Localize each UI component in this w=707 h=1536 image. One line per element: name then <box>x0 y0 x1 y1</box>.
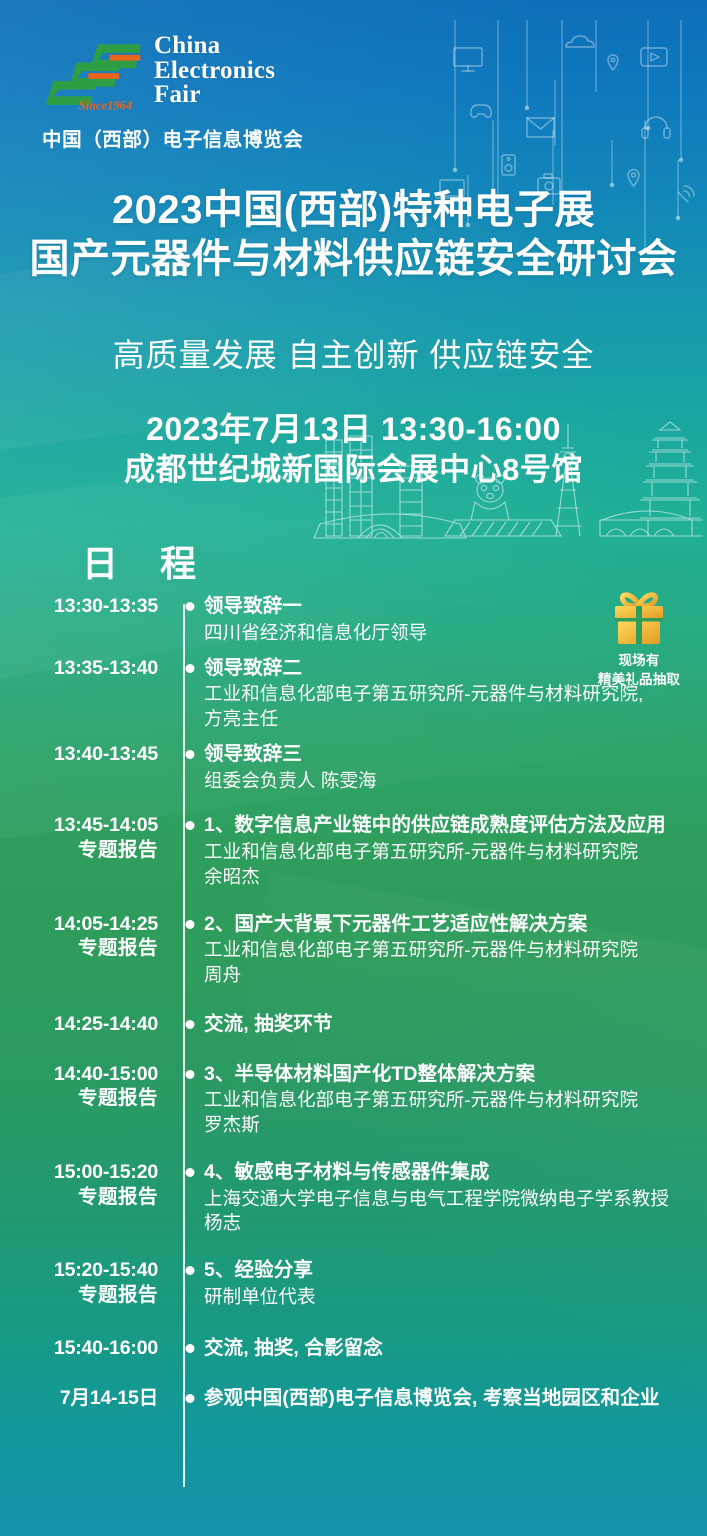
schedule-row-time: 13:35-13:40 <box>0 656 158 681</box>
schedule-row-title: 领导致辞一 <box>204 594 691 620</box>
schedule-row-title: 交流, 抽奖环节 <box>204 1012 691 1038</box>
schedule-row-description: 研制单位代表 <box>204 1285 691 1310</box>
schedule-row-time-cell: 15:20-15:40专题报告 <box>0 1258 176 1310</box>
cef-logo-mark: Since1964 <box>42 38 148 114</box>
gamepad-icon <box>471 105 492 117</box>
schedule-row-body: 领导致辞三组委会负责人 陈雯海 <box>204 742 707 794</box>
schedule-row: 14:05-14:25专题报告2、国产大背景下元器件工艺适应性解决方案工业和信息… <box>0 912 707 990</box>
headphones-icon <box>642 117 670 138</box>
event-info: 2023年7月13日 13:30-16:00 成都世纪城新国际会展中心8号馆 <box>0 408 707 491</box>
title-line-2: 国产元器件与材料供应链安全研讨会 <box>0 235 707 284</box>
schedule-row-title: 3、半导体材料国产化TD整体解决方案 <box>204 1062 691 1088</box>
logo-line-fair: Fair <box>154 83 275 108</box>
schedule-row-description: 上海交通大学电子信息与电气工程学院微纳电子学系教授杨志 <box>204 1187 691 1237</box>
schedule-row-body: 交流, 抽奖环节 <box>204 1012 707 1038</box>
schedule-row-time: 15:00-15:20 <box>0 1160 158 1185</box>
schedule-row: 14:40-15:00专题报告3、半导体材料国产化TD整体解决方案工业和信息化部… <box>0 1062 707 1140</box>
schedule-row-title: 领导致辞三 <box>204 742 691 768</box>
timeline-dot-column <box>176 912 204 988</box>
timeline-dot-icon <box>186 664 195 673</box>
schedule-row-time-cell: 7月14-15日 <box>0 1386 176 1412</box>
schedule-row-title: 参观中国(西部)电子信息博览会, 考察当地园区和企业 <box>204 1386 691 1412</box>
schedule-row-description: 工业和信息化部电子第五研究所-元器件与材料研究院,方亮主任 <box>204 682 691 732</box>
event-venue: 成都世纪城新国际会展中心8号馆 <box>0 450 707 491</box>
timeline-dot-icon <box>186 602 195 611</box>
schedule-row-time-subtitle: 专题报告 <box>0 936 158 961</box>
timeline-dot-column <box>176 1336 204 1362</box>
schedule-row-body: 交流, 抽奖, 合影留念 <box>204 1336 707 1362</box>
title-line-1: 2023中国(西部)特种电子展 <box>0 186 707 235</box>
schedule-row-title: 5、经验分享 <box>204 1258 691 1284</box>
timeline-dot-icon <box>186 1344 195 1353</box>
schedule-row-time: 14:40-15:00 <box>0 1062 158 1087</box>
logo-since-text: Since1964 <box>79 99 133 113</box>
timeline-dot-column <box>176 1160 204 1236</box>
schedule-row-title: 领导致辞二 <box>204 656 691 682</box>
schedule-row-time: 14:25-14:40 <box>0 1012 158 1037</box>
schedule-row-description: 工业和信息化部电子第五研究所-元器件与材料研究院余昭杰 <box>204 840 691 890</box>
schedule-row: 7月14-15日参观中国(西部)电子信息博览会, 考察当地园区和企业 <box>0 1386 707 1414</box>
location-pin-icon-2 <box>628 170 639 187</box>
timeline-dot-column <box>176 656 204 732</box>
schedule-row: 15:40-16:00交流, 抽奖, 合影留念 <box>0 1336 707 1364</box>
cef-logo: Since1964 China Electronics Fair 中国（西部）电… <box>42 34 304 149</box>
timeline-dot-icon <box>186 1070 195 1079</box>
logo-line-electronics: Electronics <box>154 59 275 84</box>
schedule-row-body: 4、敏感电子材料与传感器件集成上海交通大学电子信息与电气工程学院微纳电子学系教授… <box>204 1160 707 1236</box>
schedule-row-time-subtitle: 专题报告 <box>0 1283 158 1308</box>
schedule-list: 13:30-13:35领导致辞一四川省经济和信息化厅领导13:35-13:40领… <box>0 594 707 1413</box>
schedule-row-body: 领导致辞二工业和信息化部电子第五研究所-元器件与材料研究院,方亮主任 <box>204 656 707 732</box>
logo-line-china: China <box>154 34 275 59</box>
schedule-heading: 日 程 <box>82 535 212 587</box>
schedule-row-time: 13:45-14:05 <box>0 813 158 838</box>
timeline-dot-column <box>176 1012 204 1038</box>
timeline-dot-column <box>176 742 204 794</box>
schedule-row-time: 7月14-15日 <box>0 1386 158 1411</box>
schedule-row-time-subtitle: 专题报告 <box>0 1086 158 1111</box>
schedule-row-description: 工业和信息化部电子第五研究所-元器件与材料研究院周舟 <box>204 938 691 988</box>
schedule-row: 15:20-15:40专题报告5、经验分享研制单位代表 <box>0 1258 707 1312</box>
timeline-dot-icon <box>186 750 195 759</box>
schedule-row-time-subtitle: 专题报告 <box>0 1185 158 1210</box>
schedule-row-body: 5、经验分享研制单位代表 <box>204 1258 707 1310</box>
schedule-row: 13:45-14:05专题报告1、数字信息产业链中的供应链成熟度评估方法及应用工… <box>0 813 707 891</box>
timeline-dot-column <box>176 813 204 889</box>
schedule-row: 13:40-13:45领导致辞三组委会负责人 陈雯海 <box>0 742 707 796</box>
schedule-row-description: 组委会负责人 陈雯海 <box>204 769 691 794</box>
timeline-dot-column <box>176 1062 204 1138</box>
main-title: 2023中国(西部)特种电子展 国产元器件与材料供应链安全研讨会 <box>0 186 707 284</box>
schedule-row-time-subtitle: 专题报告 <box>0 838 158 863</box>
poster-root: Since1964 China Electronics Fair 中国（西部）电… <box>0 0 707 1536</box>
monitor-icon <box>454 48 482 71</box>
play-video-icon <box>641 48 667 66</box>
schedule-row-body: 领导致辞一四川省经济和信息化厅领导 <box>204 594 707 646</box>
schedule-row-time: 14:05-14:25 <box>0 912 158 937</box>
timeline-dot-icon <box>186 1394 195 1403</box>
schedule-row: 13:30-13:35领导致辞一四川省经济和信息化厅领导 <box>0 594 707 648</box>
schedule-row-body: 参观中国(西部)电子信息博览会, 考察当地园区和企业 <box>204 1386 707 1412</box>
schedule-row-time-cell: 15:00-15:20专题报告 <box>0 1160 176 1236</box>
schedule-row-title: 4、敏感电子材料与传感器件集成 <box>204 1160 691 1186</box>
timeline-dot-icon <box>186 920 195 929</box>
envelope-icon <box>527 118 554 137</box>
schedule-row: 15:00-15:20专题报告4、敏感电子材料与传感器件集成上海交通大学电子信息… <box>0 1160 707 1238</box>
slogan: 高质量发展 自主创新 供应链安全 <box>0 330 707 376</box>
logo-chinese-name: 中国（西部）电子信息博览会 <box>42 123 304 152</box>
schedule-row-time: 15:40-16:00 <box>0 1336 158 1361</box>
schedule-row-description: 工业和信息化部电子第五研究所-元器件与材料研究院罗杰斯 <box>204 1088 691 1138</box>
schedule-row-body: 2、国产大背景下元器件工艺适应性解决方案工业和信息化部电子第五研究所-元器件与材… <box>204 912 707 988</box>
speaker-icon <box>502 155 515 175</box>
timeline-dot-column <box>176 1386 204 1412</box>
schedule-row-time-cell: 13:30-13:35 <box>0 594 176 646</box>
timeline-dot-column <box>176 594 204 646</box>
timeline-dot-icon <box>186 1266 195 1275</box>
schedule-row-title: 交流, 抽奖, 合影留念 <box>204 1336 691 1362</box>
schedule-row-time-cell: 13:45-14:05专题报告 <box>0 813 176 889</box>
schedule-row-title: 2、国产大背景下元器件工艺适应性解决方案 <box>204 912 691 938</box>
cloud-icon <box>566 36 594 47</box>
schedule-row-time-cell: 13:35-13:40 <box>0 656 176 732</box>
schedule-row-time: 13:30-13:35 <box>0 594 158 619</box>
schedule-row-time: 15:20-15:40 <box>0 1258 158 1283</box>
schedule-row-time-cell: 15:40-16:00 <box>0 1336 176 1362</box>
event-datetime: 2023年7月13日 13:30-16:00 <box>0 408 707 450</box>
schedule-row-time-cell: 14:40-15:00专题报告 <box>0 1062 176 1138</box>
location-pin-icon-1 <box>608 55 618 70</box>
schedule-row-title: 1、数字信息产业链中的供应链成熟度评估方法及应用 <box>204 813 691 839</box>
schedule-row-body: 3、半导体材料国产化TD整体解决方案工业和信息化部电子第五研究所-元器件与材料研… <box>204 1062 707 1138</box>
timeline-dot-icon <box>186 1168 195 1177</box>
timeline-dot-icon <box>186 821 195 830</box>
schedule-row-time: 13:40-13:45 <box>0 742 158 767</box>
timeline-dot-column <box>176 1258 204 1310</box>
schedule-row: 14:25-14:40交流, 抽奖环节 <box>0 1012 707 1040</box>
schedule-row-body: 1、数字信息产业链中的供应链成熟度评估方法及应用工业和信息化部电子第五研究所-元… <box>204 813 707 889</box>
timeline-dot-icon <box>186 1020 195 1029</box>
schedule-row-description: 四川省经济和信息化厅领导 <box>204 621 691 646</box>
schedule-row-time-cell: 13:40-13:45 <box>0 742 176 794</box>
schedule-row: 13:35-13:40领导致辞二工业和信息化部电子第五研究所-元器件与材料研究院… <box>0 656 707 734</box>
schedule-row-time-cell: 14:25-14:40 <box>0 1012 176 1038</box>
schedule-row-time-cell: 14:05-14:25专题报告 <box>0 912 176 988</box>
